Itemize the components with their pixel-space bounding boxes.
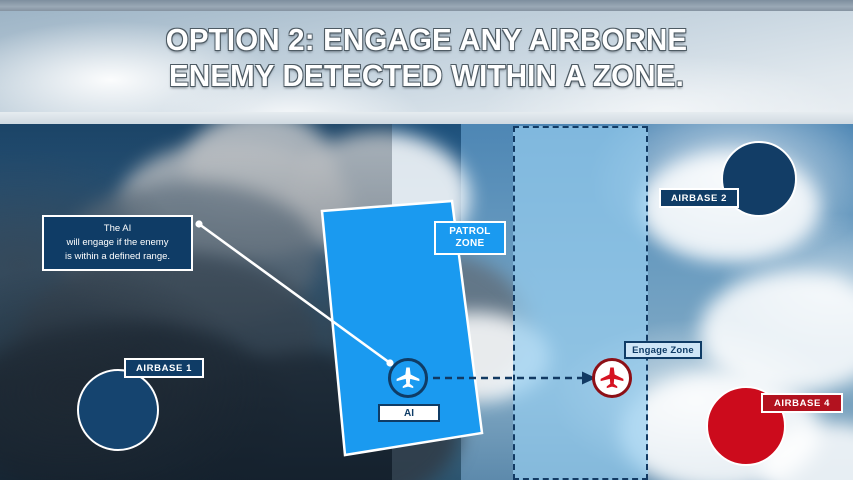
callout-line-1: The AI (104, 222, 131, 236)
enemy-aircraft-marker[interactable] (592, 358, 632, 398)
top-strip (0, 0, 853, 11)
patrol-zone-label[interactable]: PATROL ZONE (434, 221, 506, 255)
airbase-2-label[interactable]: AIRBASE 2 (659, 188, 739, 208)
airbase-4-label[interactable]: AIRBASE 4 (761, 393, 843, 413)
title-line-1: OPTION 2: ENGAGE ANY AIRBORNE (166, 22, 687, 57)
airbase-1-marker[interactable] (77, 369, 159, 451)
ai-aircraft-label[interactable]: AI (378, 404, 440, 422)
jet-icon (394, 366, 422, 390)
callout-line-2: will engage if the enemy (67, 236, 169, 250)
ai-aircraft-marker[interactable] (388, 358, 428, 398)
title-line-2: ENEMY DETECTED WITHIN A ZONE. (21, 58, 831, 94)
patrol-zone-label-line2: ZONE (449, 238, 490, 250)
airbase-1-label[interactable]: AIRBASE 1 (124, 358, 204, 378)
engage-zone-label[interactable]: Engage Zone (624, 341, 702, 359)
patrol-zone-label-line1: PATROL (449, 226, 490, 238)
callout-line-3: is within a defined range. (65, 250, 170, 264)
header-bottom-edge (0, 112, 853, 124)
slide-canvas: AIRBASE 1 AIRBASE 2 AIRBASE 4 PATROL ZON… (0, 0, 853, 480)
page-title: OPTION 2: ENGAGE ANY AIRBORNE ENEMY DETE… (21, 22, 831, 94)
jet-icon (598, 366, 626, 390)
ai-engagement-callout[interactable]: The AI will engage if the enemy is withi… (42, 215, 193, 271)
